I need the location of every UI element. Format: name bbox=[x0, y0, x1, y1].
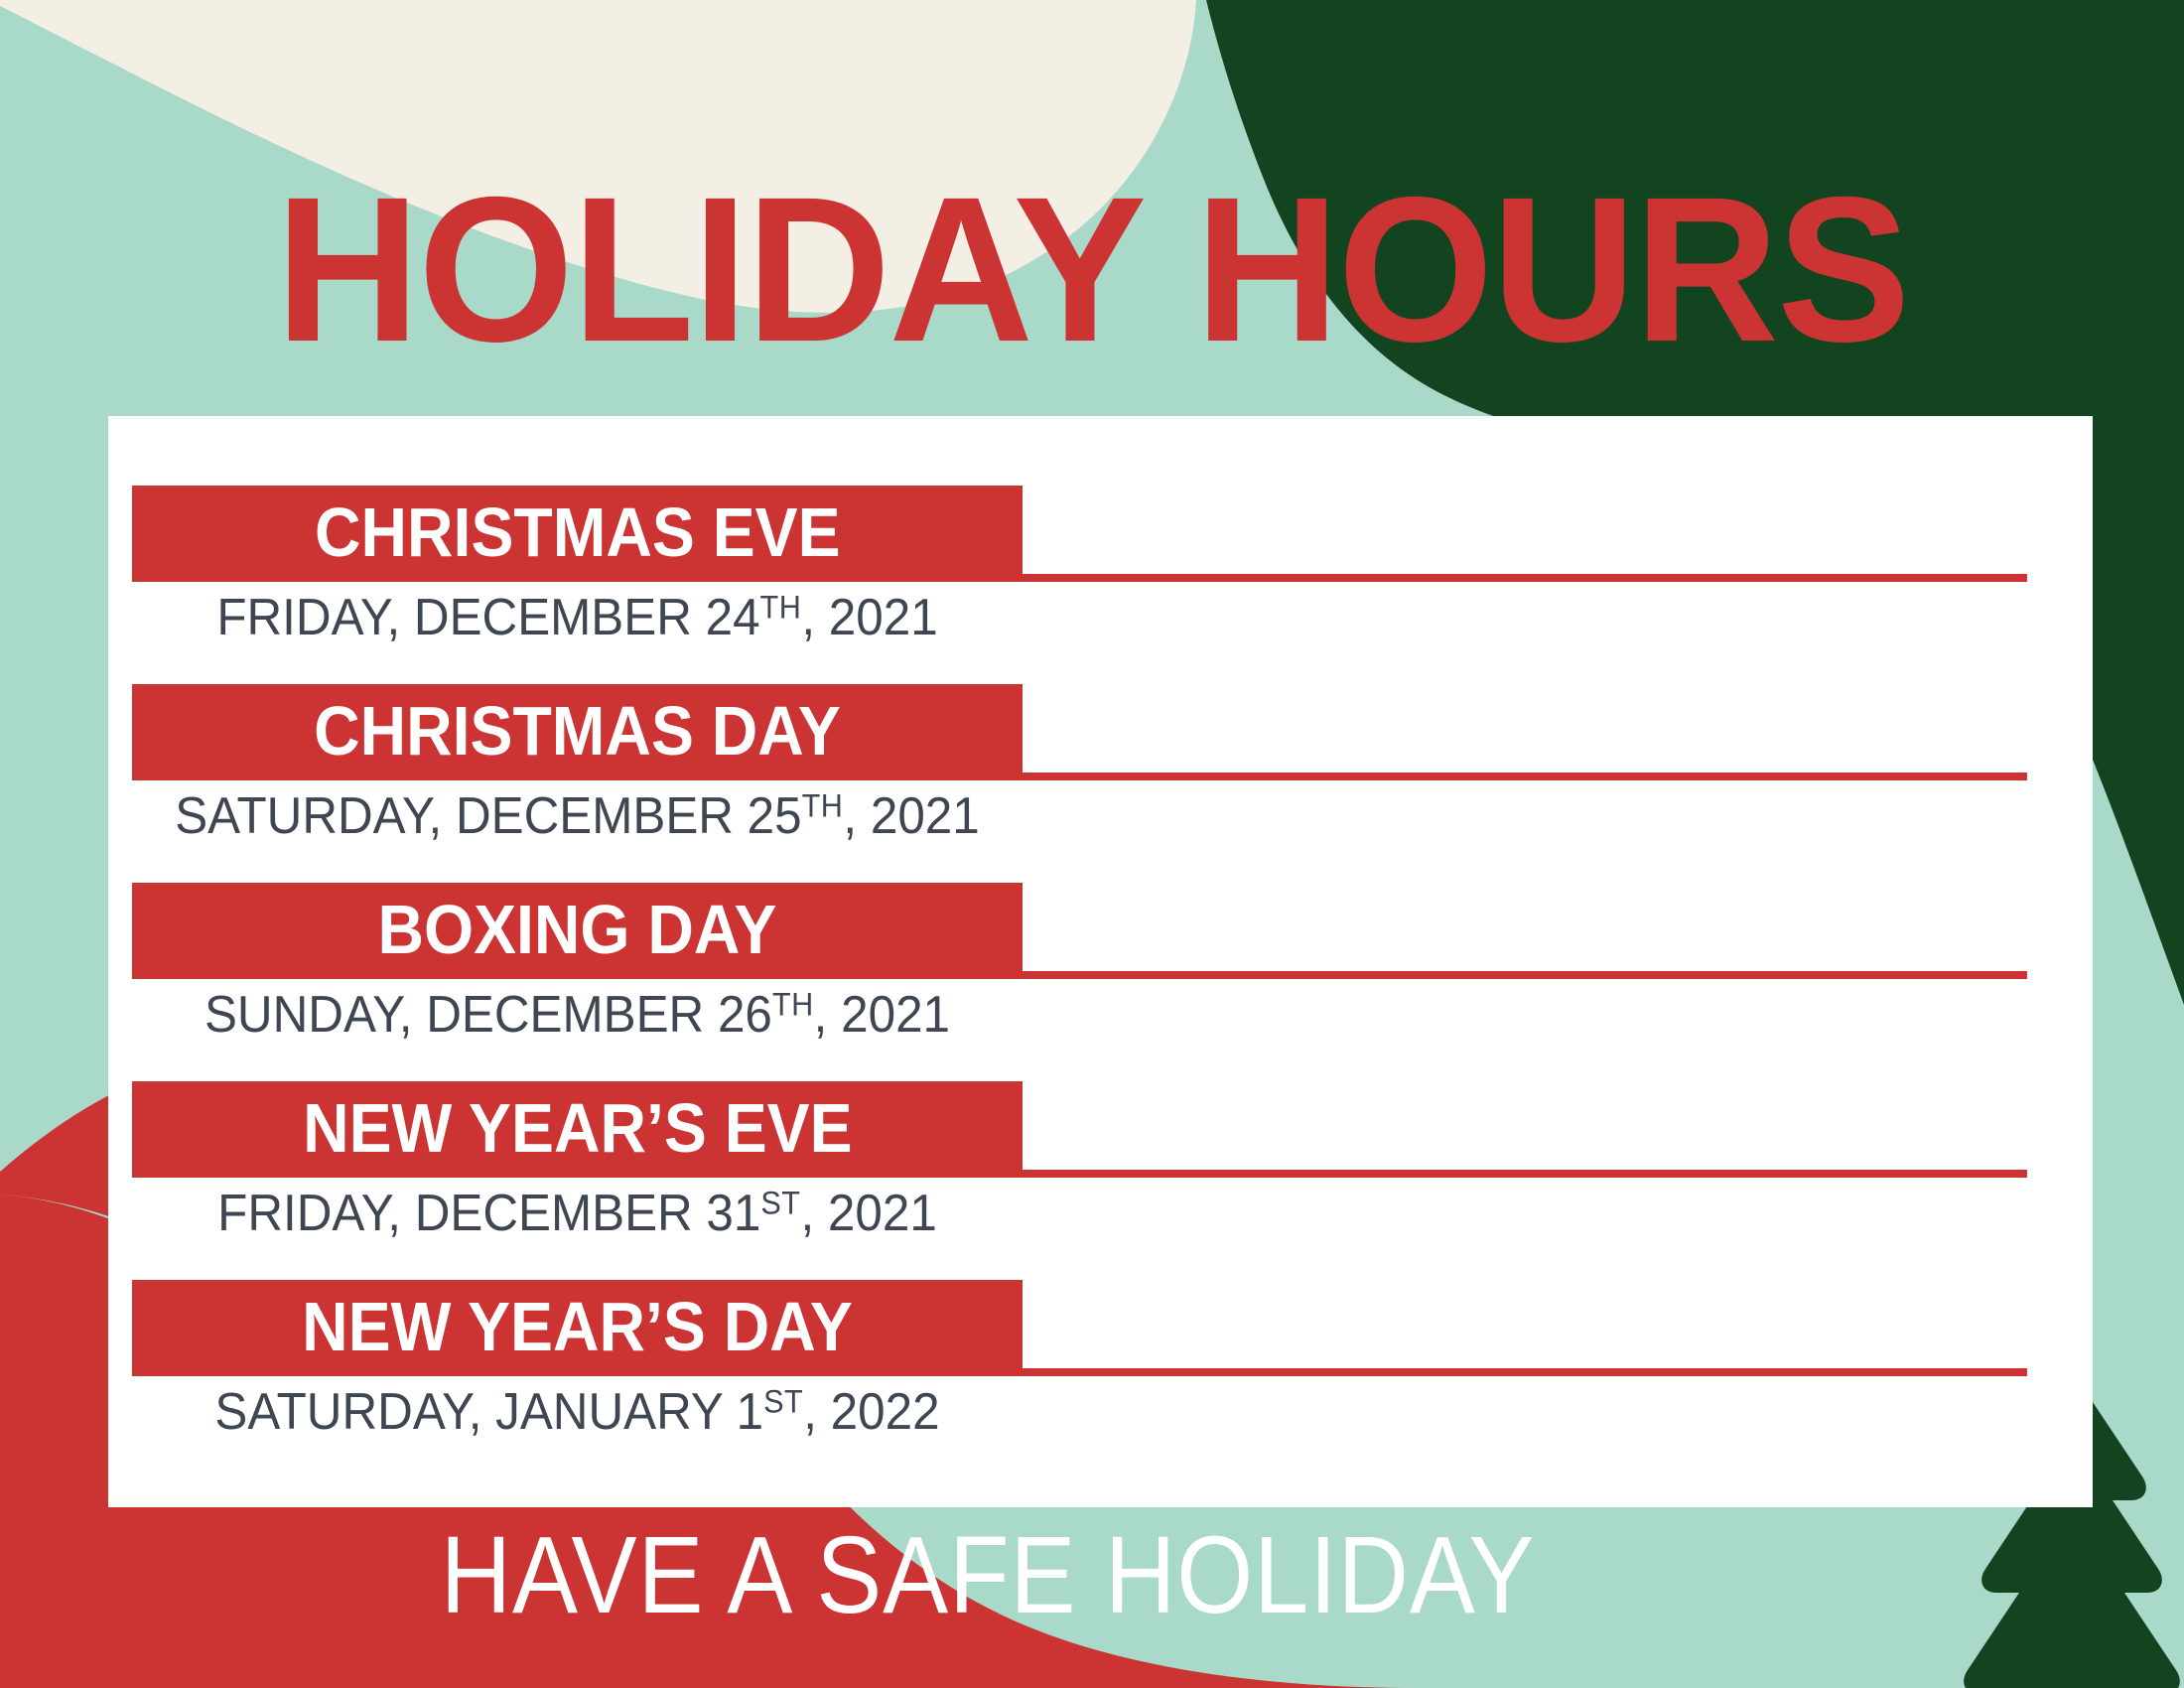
holiday-name-bar: BOXING DAY bbox=[132, 883, 1023, 979]
holiday-name-bar: CHRISTMAS DAY bbox=[132, 684, 1023, 780]
hours-entry-line bbox=[1023, 574, 2027, 582]
holiday-name-bar: CHRISTMAS EVE bbox=[132, 486, 1023, 582]
holiday-name: CHRISTMAS DAY bbox=[314, 696, 841, 770]
holiday-date-prefix: SATURDAY, JANUARY 1 bbox=[214, 1383, 763, 1441]
holiday-date-prefix: SATURDAY, DECEMBER 25 bbox=[175, 787, 801, 845]
holiday-name: CHRISTMAS EVE bbox=[315, 497, 841, 571]
hours-entry-line bbox=[1023, 1368, 2027, 1376]
holiday-date-ordinal: ST bbox=[760, 1185, 800, 1220]
holiday-date-prefix: SUNDAY, DECEMBER 26 bbox=[205, 986, 772, 1044]
holiday-date-suffix: , 2021 bbox=[800, 1185, 936, 1242]
footer-message: HAVE A SAFE HOLIDAY bbox=[99, 1521, 1877, 1630]
table-row: NEW YEAR’S EVE FRIDAY, DECEMBER 31ST, 20… bbox=[132, 1081, 2093, 1280]
holiday-date-ordinal: TH bbox=[760, 589, 802, 625]
holiday-date-suffix: , 2022 bbox=[803, 1383, 939, 1441]
holiday-date: SATURDAY, JANUARY 1ST, 2022 bbox=[154, 1383, 1000, 1443]
holiday-name: NEW YEAR’S DAY bbox=[302, 1292, 853, 1365]
table-row: CHRISTMAS DAY SATURDAY, DECEMBER 25TH, 2… bbox=[132, 684, 2093, 883]
hours-entry-line bbox=[1023, 1170, 2027, 1178]
page-title: HOLIDAY HOURS bbox=[33, 167, 2151, 373]
holiday-date-ordinal: TH bbox=[772, 986, 814, 1022]
holiday-name-bar: NEW YEAR’S EVE bbox=[132, 1081, 1023, 1178]
holiday-date-prefix: FRIDAY, DECEMBER 31 bbox=[217, 1185, 760, 1242]
holiday-date: SUNDAY, DECEMBER 26TH, 2021 bbox=[154, 986, 1000, 1046]
holiday-name-bar: NEW YEAR’S DAY bbox=[132, 1280, 1023, 1376]
holiday-date: FRIDAY, DECEMBER 31ST, 2021 bbox=[154, 1185, 1000, 1244]
table-row: CHRISTMAS EVE FRIDAY, DECEMBER 24TH, 202… bbox=[132, 486, 2093, 684]
table-row: BOXING DAY SUNDAY, DECEMBER 26TH, 2021 bbox=[132, 883, 2093, 1081]
table-row: NEW YEAR’S DAY SATURDAY, JANUARY 1ST, 20… bbox=[132, 1280, 2093, 1493]
holiday-hours-poster: HOLIDAY HOURS CHRISTMAS EVE FRIDAY, DECE… bbox=[0, 0, 2184, 1688]
hours-entry-line bbox=[1023, 971, 2027, 979]
holiday-date: SATURDAY, DECEMBER 25TH, 2021 bbox=[154, 787, 1000, 847]
holiday-date-ordinal: TH bbox=[802, 787, 844, 823]
hours-card: CHRISTMAS EVE FRIDAY, DECEMBER 24TH, 202… bbox=[108, 416, 2093, 1507]
holiday-date-ordinal: ST bbox=[763, 1383, 803, 1419]
holiday-date-suffix: , 2021 bbox=[814, 986, 950, 1044]
holiday-name: NEW YEAR’S EVE bbox=[303, 1093, 853, 1167]
holiday-date: FRIDAY, DECEMBER 24TH, 2021 bbox=[154, 589, 1000, 648]
holiday-date-suffix: , 2021 bbox=[843, 787, 979, 845]
hours-entry-line bbox=[1023, 773, 2027, 780]
holiday-name: BOXING DAY bbox=[377, 895, 776, 968]
holiday-date-prefix: FRIDAY, DECEMBER 24 bbox=[216, 589, 759, 646]
holiday-date-suffix: , 2021 bbox=[801, 589, 937, 646]
